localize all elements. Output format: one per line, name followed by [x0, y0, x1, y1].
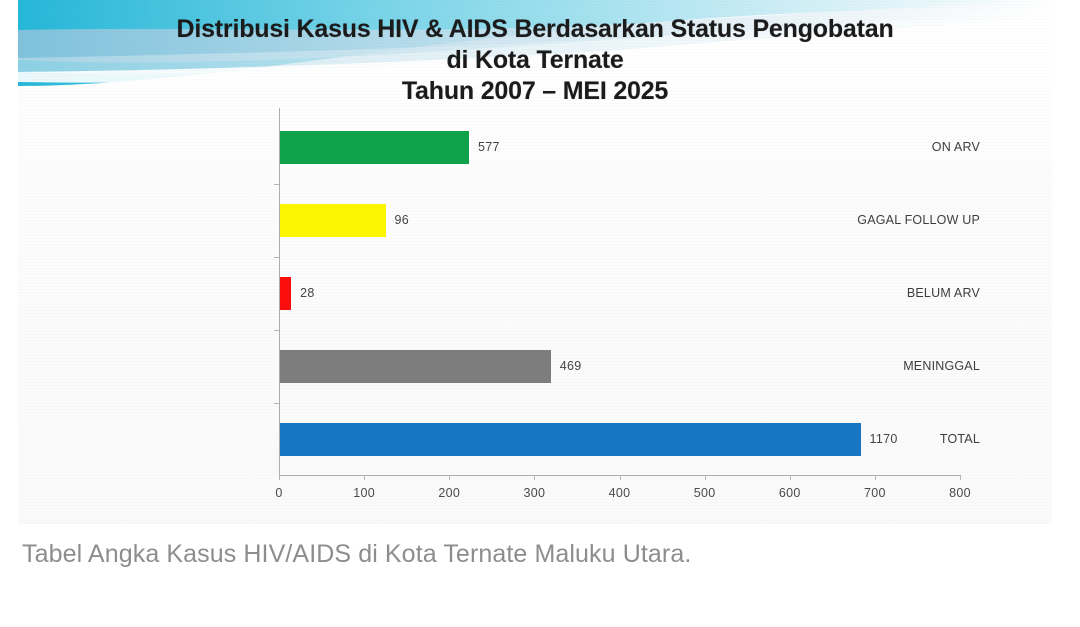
x-tick-label: 100	[353, 486, 375, 500]
bar-belum-arv	[280, 277, 291, 310]
x-tick	[449, 475, 450, 480]
x-tick-label: 700	[864, 486, 886, 500]
x-tick	[705, 475, 706, 480]
x-tick-label: 500	[694, 486, 716, 500]
chart-title: Distribusi Kasus HIV & AIDS Berdasarkan …	[18, 14, 1052, 107]
bar-chart: ON ARVGAGAL FOLLOW UPBELUM ARVMENINGGALT…	[130, 106, 980, 506]
bar-gagal-follow-up	[280, 204, 386, 237]
bar-value-gagal-follow-up: 96	[395, 213, 410, 227]
plot-area: 57796284691170 0100200300400500600700800	[279, 106, 980, 506]
figure-caption: Tabel Angka Kasus HIV/AIDS di Kota Terna…	[22, 540, 691, 569]
bar-meninggal	[280, 350, 551, 383]
x-tick-label: 600	[779, 486, 801, 500]
x-tick	[279, 475, 280, 480]
bar-value-belum-arv: 28	[300, 286, 315, 300]
x-tick-label: 200	[438, 486, 460, 500]
bar-value-total: 1170	[870, 432, 898, 446]
bar-total	[280, 423, 861, 456]
bar-on-arv	[280, 131, 469, 164]
x-tick	[790, 475, 791, 480]
x-tick	[620, 475, 621, 480]
category-tick	[274, 184, 279, 185]
x-tick-label: 0	[275, 486, 282, 500]
bar-value-on-arv: 577	[478, 140, 500, 154]
bar-value-meninggal: 469	[560, 359, 582, 373]
x-tick	[534, 475, 535, 480]
category-tick	[274, 330, 279, 331]
x-tick-label: 800	[949, 486, 971, 500]
chart-title-line-3: Tahun 2007 – MEI 2025	[18, 76, 1052, 107]
x-tick-label: 300	[523, 486, 545, 500]
x-tick-label: 400	[609, 486, 631, 500]
x-tick	[875, 475, 876, 480]
chart-title-line-2: di Kota Ternate	[18, 45, 1052, 76]
category-tick	[274, 403, 279, 404]
slide-image: Distribusi Kasus HIV & AIDS Berdasarkan …	[18, 0, 1052, 524]
chart-title-line-1: Distribusi Kasus HIV & AIDS Berdasarkan …	[18, 14, 1052, 45]
x-tick	[960, 475, 961, 480]
x-tick	[364, 475, 365, 480]
category-tick	[274, 257, 279, 258]
